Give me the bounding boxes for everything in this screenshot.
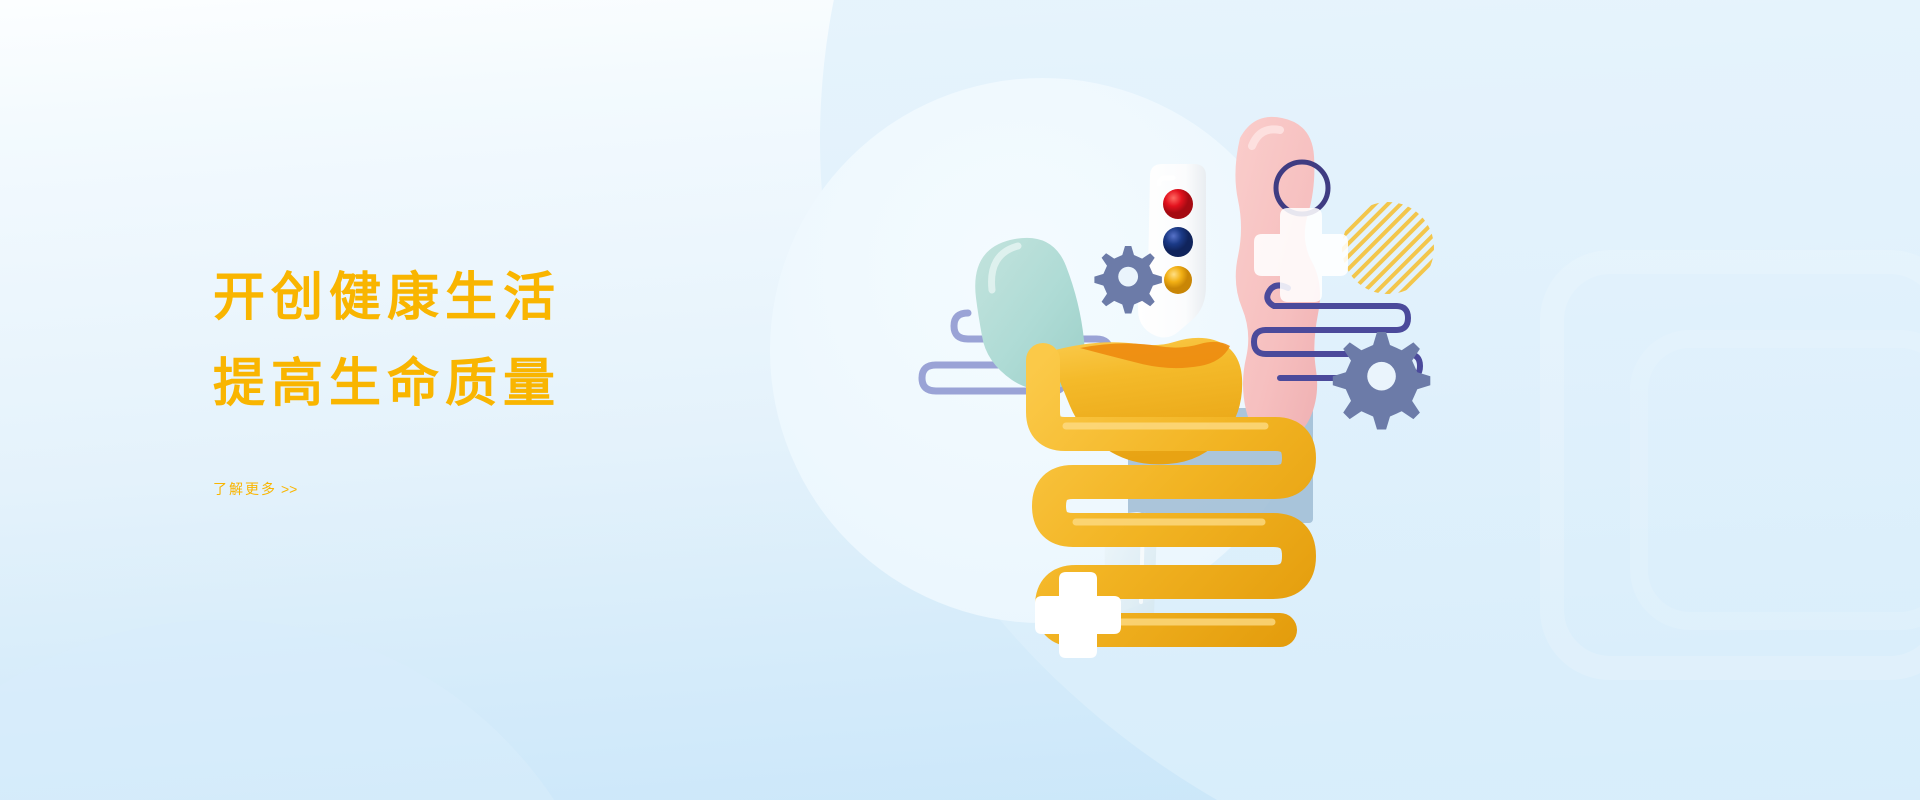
learn-more-link[interactable]: 了解更多>> (213, 479, 297, 499)
background-rounded-rect-outline-inner (1630, 330, 1920, 630)
pill-red (1163, 189, 1193, 219)
learn-more-label: 了解更多 (213, 481, 277, 497)
pill-navy (1163, 227, 1193, 257)
hero-copy-block: 开创健康生活 提高生命质量 了解更多>> (213, 255, 833, 499)
background-corner-circle (0, 620, 620, 800)
esophagus-test-tube (1138, 164, 1206, 338)
digestive-system-illustration (880, 60, 1500, 680)
gear-large-icon (1333, 332, 1431, 430)
background-rounded-rect-outline (1540, 250, 1920, 680)
headline-line-2: 提高生命质量 (213, 341, 833, 427)
hero-banner: 开创健康生活 提高生命质量 了解更多>> (0, 0, 1920, 800)
headline-line-1: 开创健康生活 (213, 255, 833, 341)
chevron-right-icon: >> (281, 481, 297, 497)
pill-amber (1164, 266, 1192, 294)
gear-small-icon (1094, 246, 1162, 314)
hatched-circle-icon (1342, 202, 1434, 294)
